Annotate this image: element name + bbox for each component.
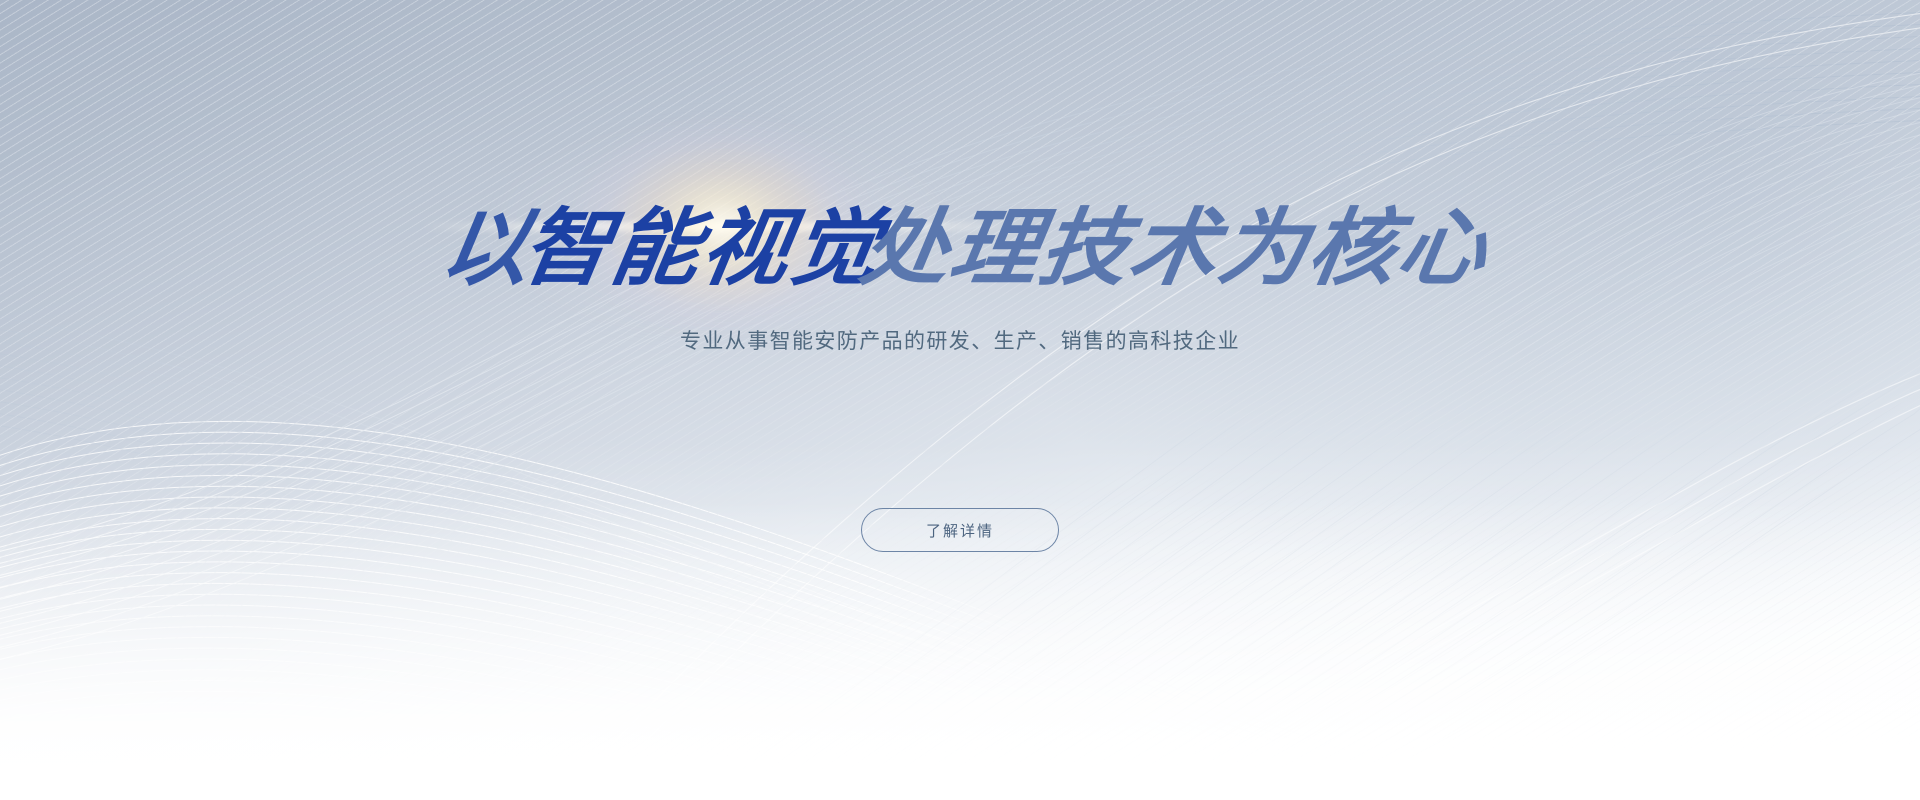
headline-segment-3: 处理技术为核心: [855, 206, 1494, 290]
hero-content: 以智能视觉处理技术为核心 专业从事智能安防产品的研发、生产、销售的高科技企业 了…: [0, 0, 1920, 800]
learn-more-button[interactable]: 了解详情: [861, 508, 1059, 552]
hero-banner: 以智能视觉处理技术为核心 专业从事智能安防产品的研发、生产、销售的高科技企业 了…: [0, 0, 1920, 800]
page-title: 以智能视觉处理技术为核心: [0, 206, 1920, 290]
cta-container: 了解详情: [0, 508, 1920, 552]
headline-segment-2: 智能视觉: [516, 206, 887, 290]
page-subtitle: 专业从事智能安防产品的研发、生产、销售的高科技企业: [0, 325, 1920, 355]
